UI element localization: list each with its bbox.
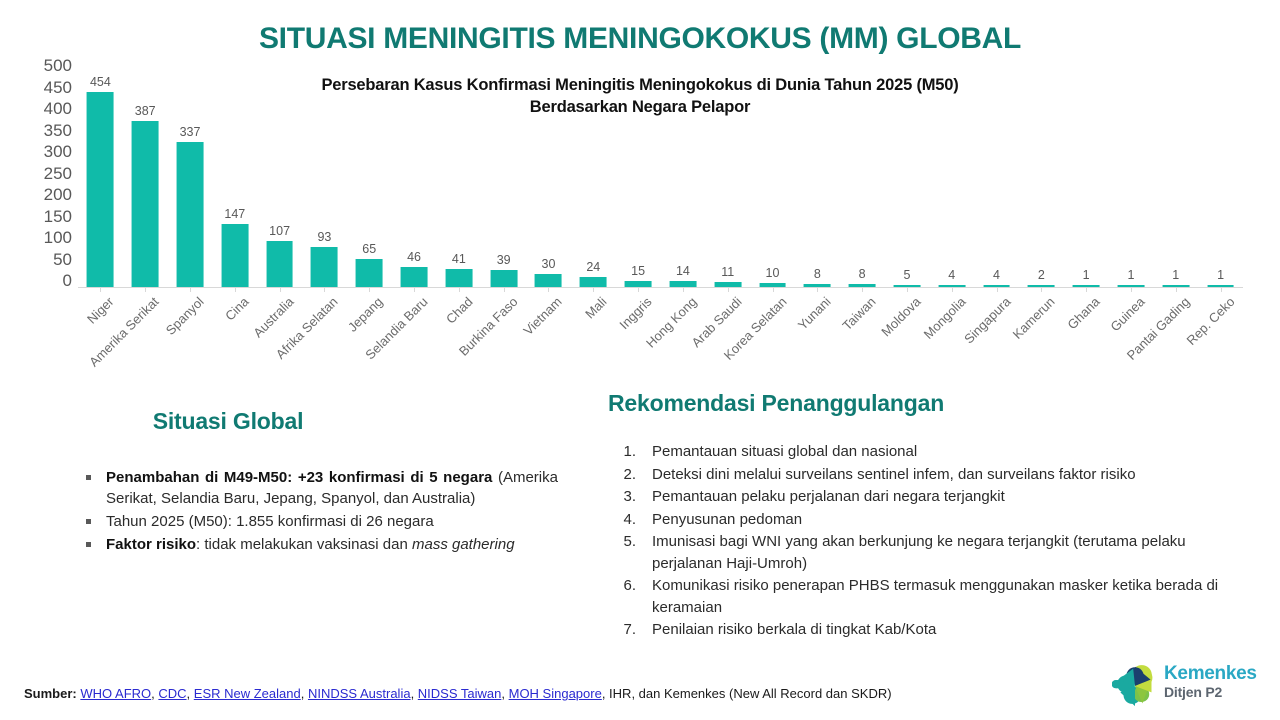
chart-container: Persebaran Kasus Konfirmasi Meningitis M… <box>0 66 1280 386</box>
x-axis-label: Rep. Ceko <box>1183 294 1237 348</box>
bar <box>266 241 293 287</box>
bar-value-label: 10 <box>766 266 780 280</box>
rekomendasi-item-text: Deteksi dini melalui surveilans sentinel… <box>652 466 1136 483</box>
bar <box>177 142 204 287</box>
bar-group: 10 <box>750 72 795 287</box>
x-axis-label: Guinea <box>1107 294 1147 334</box>
rekomendasi-item: 5.Imunisasi bagi WNI yang akan berkunjun… <box>608 531 1248 574</box>
rekomendasi-section: Rekomendasi Penanggulangan 1.Pemantauan … <box>608 390 1248 642</box>
x-axis-tick <box>773 287 774 292</box>
source-link[interactable]: ESR New Zealand <box>194 686 301 701</box>
item-text: : tidak melakukan vaksinasi dan <box>196 536 412 553</box>
situasi-global-item: Penambahan di M49-M50: +23 konfirmasi di… <box>78 467 558 509</box>
bar-value-label: 24 <box>586 260 600 274</box>
source-links: WHO AFRO, CDC, ESR New Zealand, NINDSS A… <box>77 686 602 701</box>
bar-group: 1 <box>1109 72 1154 287</box>
x-axis-tick <box>235 287 236 292</box>
x-axis-tick <box>548 287 549 292</box>
situasi-global-list: Penambahan di M49-M50: +23 konfirmasi di… <box>78 467 558 555</box>
bar-value-label: 93 <box>317 230 331 244</box>
rekomendasi-heading: Rekomendasi Penanggulangan <box>608 390 1248 417</box>
bar-group: 4 <box>929 72 974 287</box>
x-axis-label: Vietnam <box>521 294 565 338</box>
y-axis-tick: 500 <box>44 56 72 76</box>
rekomendasi-list: 1.Pemantauan situasi global dan nasional… <box>608 441 1248 641</box>
y-axis-tick: 50 <box>53 250 72 270</box>
x-axis-tick <box>190 287 191 292</box>
bar-value-label: 15 <box>631 264 645 278</box>
bar <box>87 92 114 287</box>
bar-value-label: 1 <box>1217 268 1224 282</box>
rekomendasi-item: 6.Komunikasi risiko penerapan PHBS terma… <box>608 575 1248 618</box>
x-axis-label: Inggris <box>616 294 654 332</box>
item-bold-lead: Penambahan di M49-M50: +23 konfirmasi di… <box>106 469 492 486</box>
bar <box>535 274 562 287</box>
source-link[interactable]: MOH Singapore <box>509 686 602 701</box>
x-axis-label: Kamerun <box>1010 294 1058 342</box>
y-axis-tick: 400 <box>44 99 72 119</box>
bar-value-label: 337 <box>180 125 201 139</box>
bar <box>490 270 517 287</box>
logo-line2: Ditjen P2 <box>1164 684 1257 700</box>
y-axis-tick: 250 <box>44 164 72 184</box>
bar-group: 24 <box>571 72 616 287</box>
situasi-global-heading: Situasi Global <box>78 408 378 435</box>
rekomendasi-item: 2.Deteksi dini melalui surveilans sentin… <box>608 464 1248 486</box>
bar-group: 454 <box>78 72 123 287</box>
y-axis-tick: 150 <box>44 207 72 227</box>
bar <box>580 277 607 287</box>
rekomendasi-item-number: 6. <box>610 575 636 597</box>
bar-group: 337 <box>168 72 213 287</box>
item-bold-lead: Faktor risiko <box>106 536 196 553</box>
logo-line1: Kemenkes <box>1164 664 1257 684</box>
bar <box>401 267 428 287</box>
x-axis-tick <box>817 287 818 292</box>
rekomendasi-item-text: Komunikasi risiko penerapan PHBS termasu… <box>652 577 1218 616</box>
x-axis-label: Cina <box>222 294 252 324</box>
rekomendasi-item: 7.Penilaian risiko berkala di tingkat Ka… <box>608 619 1248 641</box>
x-axis-label: Chad <box>443 294 476 327</box>
x-axis-tick <box>369 287 370 292</box>
bar-value-label: 11 <box>721 265 734 279</box>
rekomendasi-item-number: 5. <box>610 531 636 553</box>
rekomendasi-item: 1.Pemantauan situasi global dan nasional <box>608 441 1248 463</box>
y-axis-tick: 0 <box>63 271 72 291</box>
rekomendasi-item-number: 7. <box>610 619 636 641</box>
bar-group: 93 <box>302 72 347 287</box>
rekomendasi-item-text: Pemantauan pelaku perjalanan dari negara… <box>652 488 1005 505</box>
bar-group: 387 <box>123 72 168 287</box>
bar-value-label: 41 <box>452 252 466 266</box>
bar-value-label: 5 <box>903 268 910 282</box>
bar <box>132 121 159 287</box>
x-axis-tick <box>593 287 594 292</box>
x-axis-tick <box>1176 287 1177 292</box>
bar-value-label: 8 <box>814 267 821 281</box>
x-axis-label: Niger <box>84 294 117 327</box>
bar-group: 39 <box>481 72 526 287</box>
bar-value-label: 4 <box>948 268 955 282</box>
x-axis-label: Singapura <box>961 294 1014 347</box>
x-axis-label: Spanyol <box>163 294 207 338</box>
rekomendasi-item-text: Penilaian risiko berkala di tingkat Kab/… <box>652 621 936 638</box>
kemenkes-logo: Kemenkes Ditjen P2 <box>1112 662 1272 712</box>
x-axis-tick <box>504 287 505 292</box>
bar-group: 2 <box>1019 72 1064 287</box>
bar-group: 41 <box>436 72 481 287</box>
x-axis-tick <box>324 287 325 292</box>
bar-value-label: 30 <box>542 257 556 271</box>
rekomendasi-item-number: 3. <box>610 486 636 508</box>
source-footer: Sumber: WHO AFRO, CDC, ESR New Zealand, … <box>24 686 892 701</box>
x-axis-tick <box>145 287 146 292</box>
clover-logo-icon <box>1112 664 1158 708</box>
source-link[interactable]: NIDSS Taiwan <box>418 686 502 701</box>
x-axis-tick <box>997 287 998 292</box>
x-axis-tick <box>1131 287 1132 292</box>
x-axis-tick <box>414 287 415 292</box>
x-axis-label: Taiwan <box>840 294 879 333</box>
situasi-global-section: Situasi Global Penambahan di M49-M50: +2… <box>78 408 578 557</box>
bar-group: 147 <box>212 72 257 287</box>
item-text: Tahun 2025 (M50): 1.855 konfirmasi di 26… <box>106 513 434 530</box>
bar-value-label: 46 <box>407 250 421 264</box>
bar <box>221 224 248 287</box>
bar-value-label: 454 <box>90 75 111 89</box>
bar-value-label: 107 <box>269 224 290 238</box>
bar-value-label: 1 <box>1127 268 1134 282</box>
x-axis-line <box>78 287 1243 288</box>
x-axis-label: Ghana <box>1065 294 1103 332</box>
bar-value-label: 1 <box>1172 268 1179 282</box>
rekomendasi-item-text: Imunisasi bagi WNI yang akan berkunjung … <box>652 533 1186 572</box>
source-link[interactable]: WHO AFRO <box>80 686 151 701</box>
x-axis-label: Jepang <box>345 294 386 335</box>
x-axis-tick <box>683 287 684 292</box>
bar-value-label: 65 <box>362 242 376 256</box>
bar-group: 1 <box>1153 72 1198 287</box>
rekomendasi-item-number: 1. <box>610 441 636 463</box>
rekomendasi-item-text: Pemantauan situasi global dan nasional <box>652 443 917 460</box>
bar-value-label: 387 <box>135 104 156 118</box>
situasi-global-item: Faktor risiko: tidak melakukan vaksinasi… <box>78 534 558 555</box>
bar <box>445 269 472 287</box>
bar-value-label: 1 <box>1083 268 1090 282</box>
bar-value-label: 39 <box>497 253 511 267</box>
plot-area: 4543873371471079365464139302415141110885… <box>78 72 1243 287</box>
bar-group: 4 <box>974 72 1019 287</box>
situasi-global-item: Tahun 2025 (M50): 1.855 konfirmasi di 26… <box>78 511 558 532</box>
bar-group: 14 <box>661 72 706 287</box>
bar-group: 46 <box>392 72 437 287</box>
source-label: Sumber: <box>24 686 77 701</box>
rekomendasi-item: 4.Penyusunan pedoman <box>608 509 1248 531</box>
bar-group: 107 <box>257 72 302 287</box>
bar-group: 8 <box>840 72 885 287</box>
bar-value-label: 14 <box>676 264 690 278</box>
y-axis-tick: 100 <box>44 228 72 248</box>
x-axis-label: Yunani <box>795 294 834 333</box>
x-axis-tick <box>1086 287 1087 292</box>
item-italic-tail: mass gathering <box>412 536 515 553</box>
y-axis-tick: 200 <box>44 185 72 205</box>
bar-group: 65 <box>347 72 392 287</box>
bar-value-label: 4 <box>993 268 1000 282</box>
bar-group: 1 <box>1064 72 1109 287</box>
bar-group: 30 <box>526 72 571 287</box>
source-tail: , IHR, dan Kemenkes (New All Record dan … <box>602 686 892 701</box>
y-axis-tick: 350 <box>44 121 72 141</box>
bar-group: 5 <box>885 72 930 287</box>
bar-group: 8 <box>795 72 840 287</box>
x-axis-tick <box>862 287 863 292</box>
rekomendasi-item-number: 2. <box>610 464 636 486</box>
y-axis: 500450400350300250200150100500 <box>28 66 72 281</box>
rekomendasi-item-text: Penyusunan pedoman <box>652 511 802 528</box>
x-axis-label: Mali <box>582 294 609 321</box>
logo-text: Kemenkes Ditjen P2 <box>1164 664 1257 700</box>
rekomendasi-item-number: 4. <box>610 509 636 531</box>
bar-group: 11 <box>705 72 750 287</box>
y-axis-tick: 450 <box>44 78 72 98</box>
x-axis-tick <box>907 287 908 292</box>
bar-group: 15 <box>616 72 661 287</box>
x-axis-tick <box>638 287 639 292</box>
bar-group: 1 <box>1198 72 1243 287</box>
x-axis-tick <box>1041 287 1042 292</box>
page-title: SITUASI MENINGITIS MENINGOKOKUS (MM) GLO… <box>0 22 1280 56</box>
source-link[interactable]: NINDSS Australia <box>308 686 411 701</box>
x-axis-tick <box>952 287 953 292</box>
bar-value-label: 147 <box>224 207 245 221</box>
x-axis-tick <box>459 287 460 292</box>
y-axis-tick: 300 <box>44 142 72 162</box>
x-axis-tick <box>728 287 729 292</box>
x-axis-tick <box>280 287 281 292</box>
bar-value-label: 8 <box>859 267 866 281</box>
x-axis-tick <box>100 287 101 292</box>
bar <box>311 247 338 287</box>
x-axis-label: Moldova <box>878 294 923 339</box>
bar-value-label: 2 <box>1038 268 1045 282</box>
bar <box>356 259 383 287</box>
source-link[interactable]: CDC <box>158 686 186 701</box>
rekomendasi-item: 3.Pemantauan pelaku perjalanan dari nega… <box>608 486 1248 508</box>
x-axis-tick <box>1221 287 1222 292</box>
